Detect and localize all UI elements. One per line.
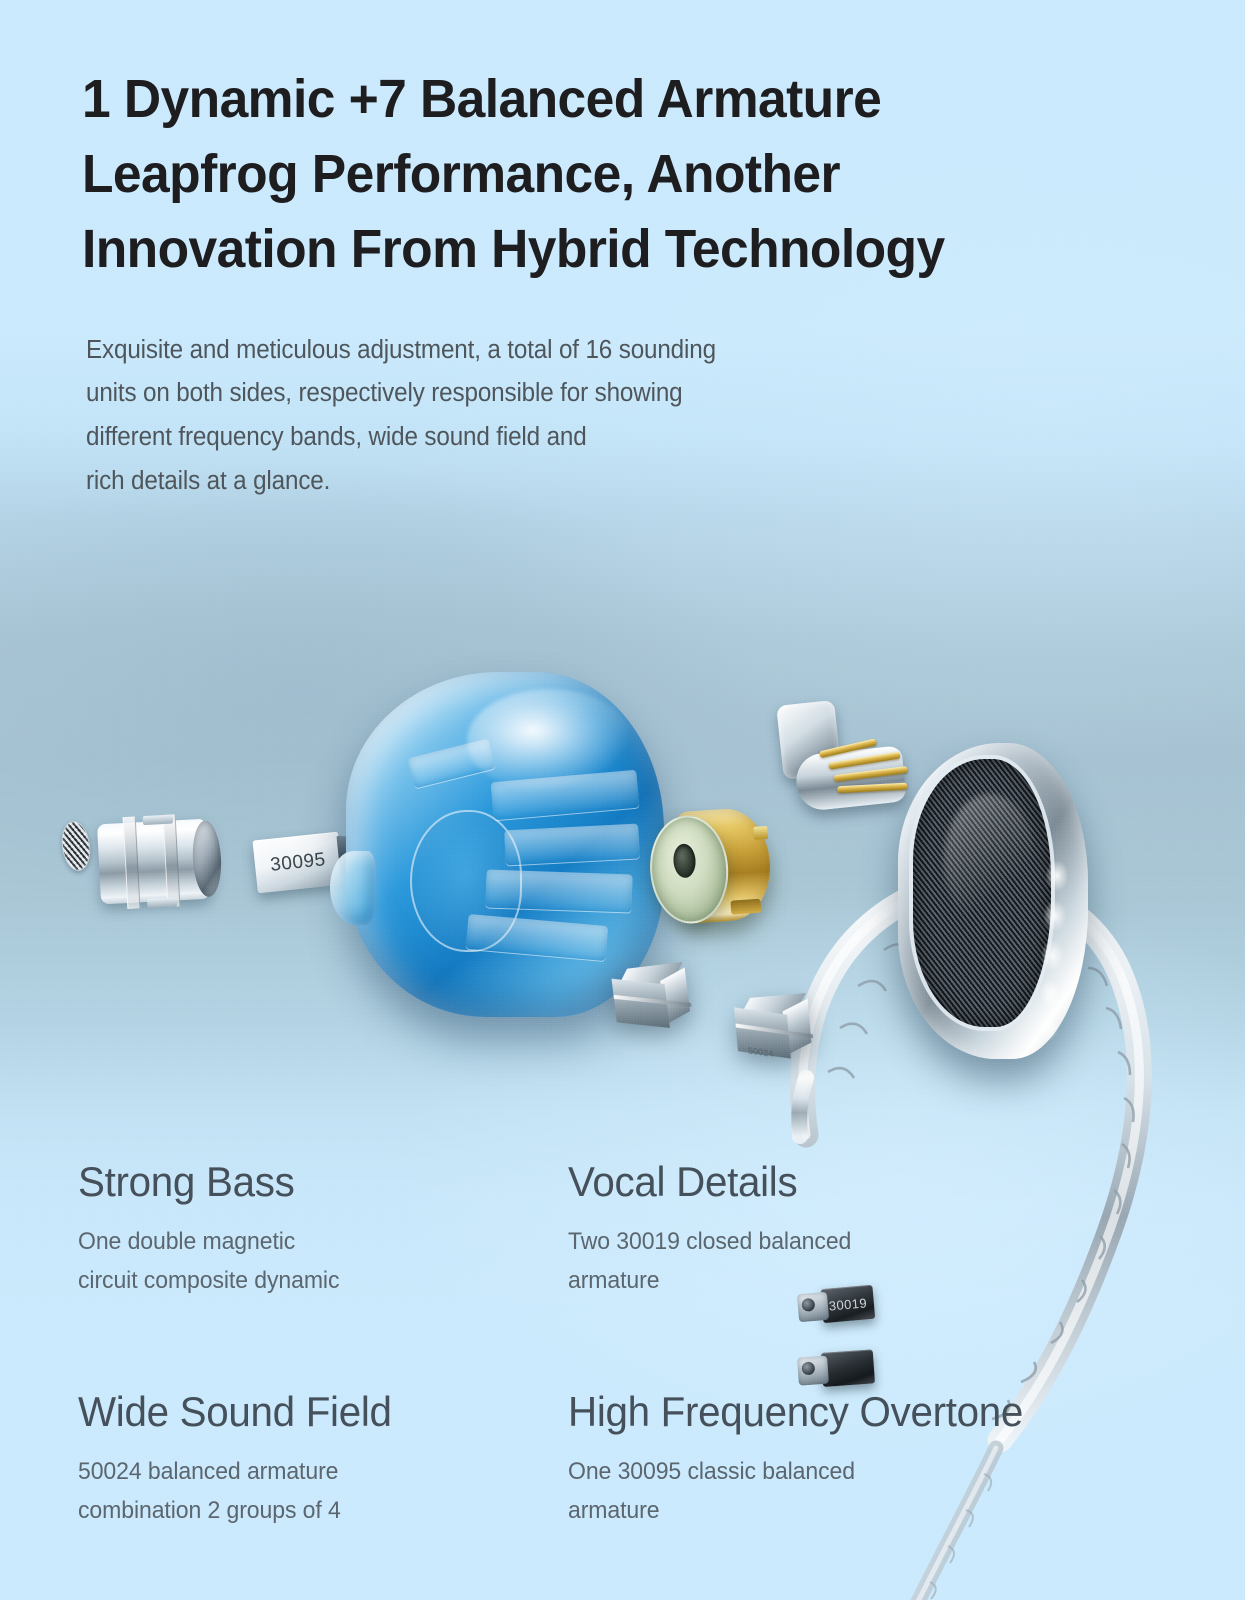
two-pin-connector-part: [770, 690, 941, 824]
feature-description: One double magnetic circuit composite dy…: [78, 1223, 339, 1301]
feature-wide-sound-field: Wide Sound Field 50024 balanced armature…: [78, 1388, 405, 1531]
feature-description: Two 30019 closed balanced armature: [568, 1223, 851, 1301]
feature-high-frequency-overtone: High Frequency Overtone One 30095 classi…: [568, 1388, 1042, 1531]
dynamic-driver-part: [646, 804, 776, 930]
nozzle-tube-part: [97, 812, 232, 911]
part-label-30095: 30095: [269, 849, 326, 877]
feature-title: High Frequency Overtone: [568, 1388, 1023, 1435]
feature-title: Wide Sound Field: [78, 1388, 392, 1435]
feature-vocal-details: Vocal Details Two 30019 closed balanced …: [568, 1158, 863, 1301]
mesh-filter-part: [59, 819, 94, 872]
armature-cube-upper-part: [610, 962, 691, 1033]
feature-strong-bass: Strong Bass One double magnetic circuit …: [78, 1158, 350, 1301]
exploded-product-image: 30095: [0, 430, 1245, 1190]
translucent-blue-shell-part: [346, 672, 664, 1017]
balanced-armature-30019-lower-part: [797, 1349, 875, 1390]
feature-description: One 30095 classic balanced armature: [568, 1453, 1023, 1531]
feature-title: Vocal Details: [568, 1158, 851, 1205]
page-title: 1 Dynamic +7 Balanced Armature Leapfrog …: [82, 62, 1142, 287]
product-feature-page: 1 Dynamic +7 Balanced Armature Leapfrog …: [0, 0, 1245, 1600]
feature-title: Strong Bass: [78, 1158, 339, 1205]
armature-cube-lower-part: 50024: [733, 993, 812, 1061]
feature-description: 50024 balanced armature combination 2 gr…: [78, 1453, 392, 1531]
